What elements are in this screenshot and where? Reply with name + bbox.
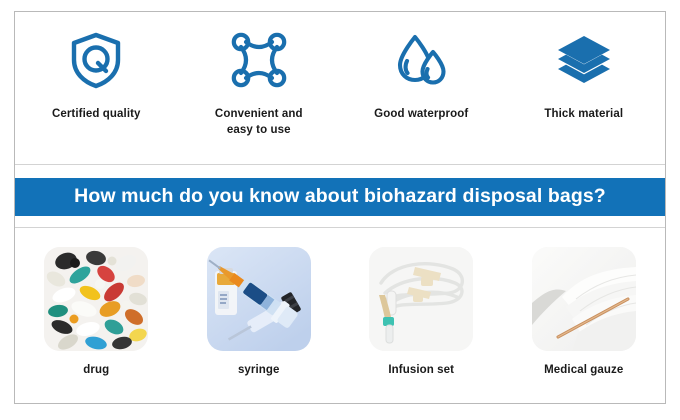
- product-drug[interactable]: drug: [15, 229, 178, 376]
- panel-card: Certified quality: [14, 11, 666, 404]
- syringe-vial-photo[interactable]: [207, 247, 311, 351]
- feature-label: Thick material: [544, 106, 623, 122]
- question-banner: How much do you know about biohazard dis…: [15, 178, 665, 216]
- banner-text: How much do you know about biohazard dis…: [74, 185, 606, 208]
- product-medical-gauze[interactable]: Medical gauze: [503, 229, 666, 376]
- feature-label: Good waterproof: [374, 106, 468, 122]
- feature-certified-quality: Certified quality: [15, 12, 178, 122]
- feature-convenient-easy-to-use: Convenient and easy to use: [178, 12, 341, 139]
- shield-quality-icon: [65, 29, 127, 91]
- banner-section: How much do you know about biohazard dis…: [15, 166, 665, 228]
- four-nodes-connected-icon: [228, 29, 290, 91]
- product-label: syringe: [238, 364, 280, 376]
- pills-capsules-photo[interactable]: [44, 247, 148, 351]
- products-row: drug: [15, 229, 665, 403]
- infusion-set-photo[interactable]: [369, 247, 473, 351]
- features-row: Certified quality: [15, 12, 665, 165]
- product-infusion-set[interactable]: Infusion set: [340, 229, 503, 376]
- product-label: Infusion set: [388, 364, 454, 376]
- product-feature-panel: Certified quality: [0, 0, 680, 420]
- product-label: Medical gauze: [544, 364, 623, 376]
- product-syringe[interactable]: syringe: [178, 229, 341, 376]
- water-droplets-icon: [390, 29, 452, 91]
- stacked-layers-icon: [553, 29, 615, 91]
- feature-label: Convenient and easy to use: [204, 106, 314, 139]
- product-label: drug: [83, 364, 109, 376]
- feature-label: Certified quality: [52, 106, 141, 122]
- feature-good-waterproof: Good waterproof: [340, 12, 503, 122]
- medical-gauze-photo[interactable]: [532, 247, 636, 351]
- feature-thick-material: Thick material: [503, 12, 666, 122]
